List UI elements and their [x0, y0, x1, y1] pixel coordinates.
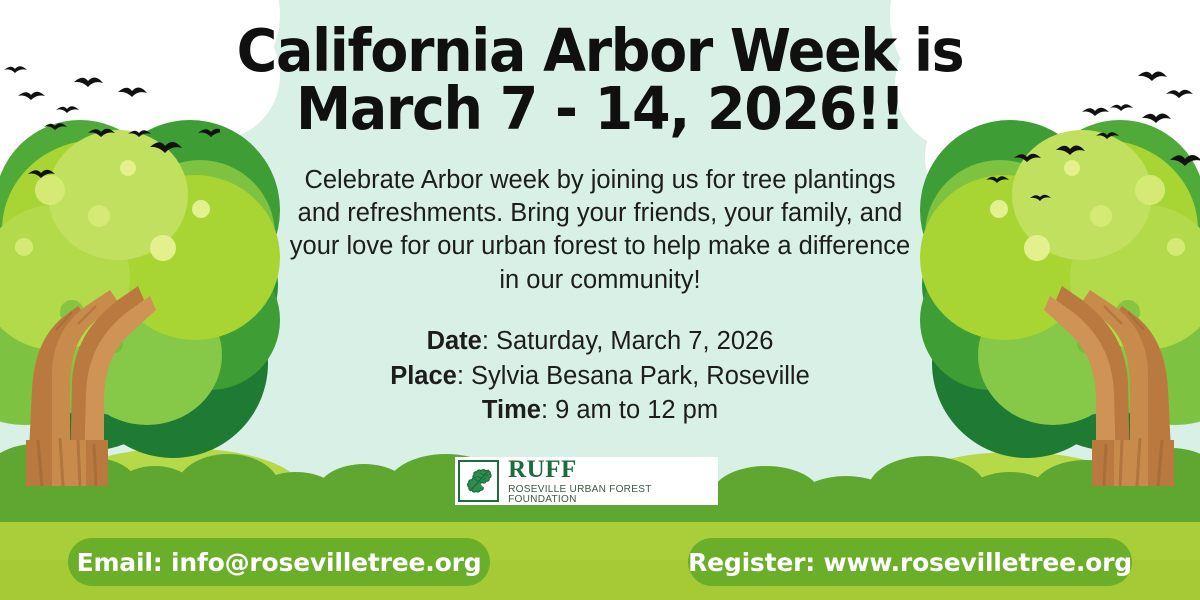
poster-content: California Arbor Week is March 7 - 14, 2… [0, 0, 1200, 522]
date-label: Date [427, 327, 482, 355]
email-button[interactable]: Email: info@rosevilletree.org [68, 538, 490, 586]
detail-row-date: Date: Saturday, March 7, 2026 [390, 324, 810, 358]
register-button[interactable]: Register: www.rosevilletree.org [688, 538, 1132, 586]
body-paragraph: Celebrate Arbor week by joining us for t… [280, 164, 920, 298]
time-value: : 9 am to 12 pm [541, 396, 718, 424]
detail-row-place: Place: Sylvia Besana Park, Roseville [390, 359, 810, 393]
event-details: Date: Saturday, March 7, 2026 Place: Syl… [390, 324, 810, 427]
date-value: : Saturday, March 7, 2026 [482, 327, 774, 355]
page-title: California Arbor Week is March 7 - 14, 2… [215, 22, 986, 138]
place-value: : Sylvia Besana Park, Roseville [457, 362, 810, 390]
headline-line-2: March 7 - 14, 2026!! [215, 80, 986, 138]
poster-canvas: California Arbor Week is March 7 - 14, 2… [0, 0, 1200, 600]
detail-row-time: Time: 9 am to 12 pm [390, 393, 810, 427]
place-label: Place [390, 362, 457, 390]
time-label: Time [482, 396, 541, 424]
